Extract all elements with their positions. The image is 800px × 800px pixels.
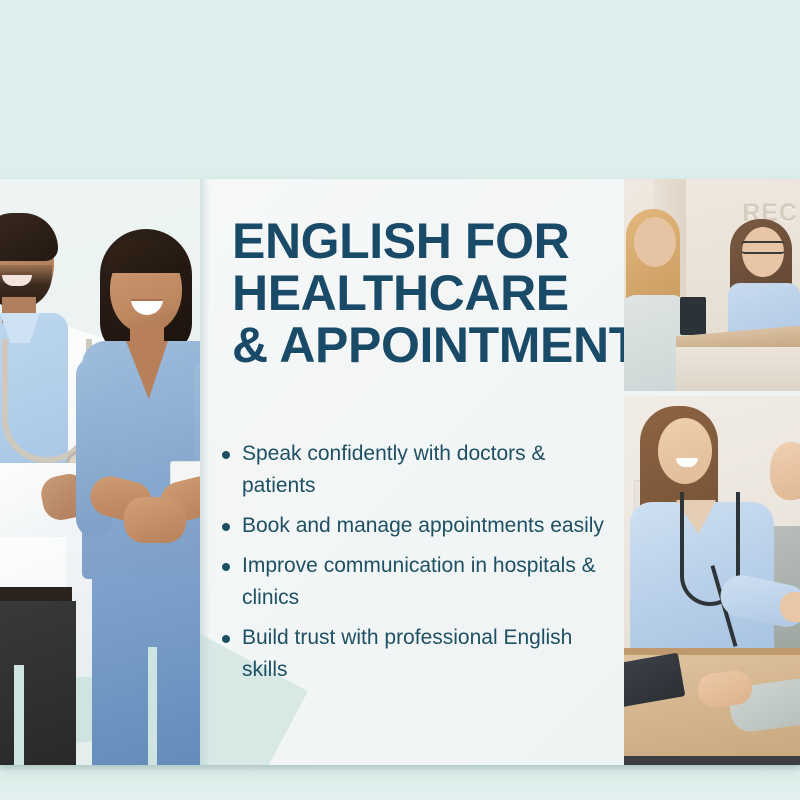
monitor-icon: [680, 297, 706, 335]
doctor-hair: [0, 213, 58, 261]
nurse-trouser-gap: [148, 647, 157, 765]
benefit-list: Speak confidently with doctors & patient…: [214, 438, 622, 694]
exam-desk-edge: [624, 648, 800, 655]
glasses-icon: [741, 241, 785, 254]
clinician-head: [658, 418, 712, 484]
nurse-fringe: [106, 239, 186, 273]
doctor-trousers: [0, 601, 76, 765]
nurse-clasped-hands: [124, 497, 186, 543]
list-item: Build trust with professional English sk…: [214, 622, 622, 686]
exam-foreground-edge: [624, 756, 800, 765]
photo-doctor-and-nurse: [0, 179, 232, 765]
list-item: Improve communication in hospitals & cli…: [214, 550, 622, 614]
headline-line-1: ENGLISH FOR: [232, 215, 616, 267]
panel-left-edge-shadow: [200, 179, 210, 765]
photo-clinician-exam: [624, 396, 800, 765]
list-item: Speak confidently with doctors & patient…: [214, 438, 622, 502]
headline-line-2: HEALTHCARE: [232, 267, 616, 319]
photo-column-right: REC: [624, 179, 800, 765]
reception-desk-front: [676, 347, 800, 391]
headline: ENGLISH FOR HEALTHCARE & APPOINTMENT: [232, 215, 616, 371]
headline-line-3: & APPOINTMENT: [232, 319, 616, 371]
text-panel: ENGLISH FOR HEALTHCARE & APPOINTMENT Spe…: [200, 179, 624, 765]
promo-banner: ENGLISH FOR HEALTHCARE & APPOINTMENT Spe…: [0, 179, 800, 765]
background-band-bottom: [0, 765, 800, 800]
clinician-hand: [780, 592, 800, 622]
patient-head: [770, 442, 800, 500]
background-band-top: [0, 0, 800, 179]
client-head: [634, 217, 676, 267]
photo-reception-desk: REC: [624, 179, 800, 391]
doctor-trouser-gap: [14, 665, 24, 765]
list-item: Book and manage appointments easily: [214, 510, 622, 542]
banner-canvas: ENGLISH FOR HEALTHCARE & APPOINTMENT Spe…: [0, 0, 800, 800]
